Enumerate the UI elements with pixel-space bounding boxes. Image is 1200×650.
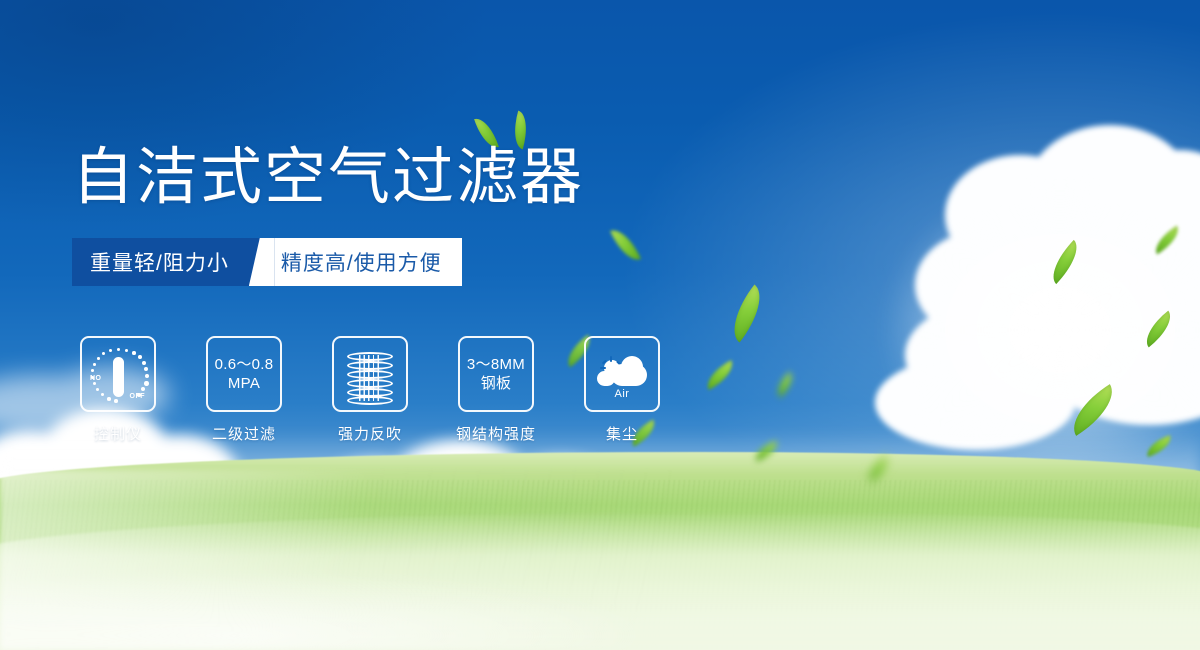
feature-label-filtration: 二级过滤 xyxy=(212,423,276,444)
air-cloud-icon: Air xyxy=(584,336,660,412)
leaf-float-1 xyxy=(610,224,641,266)
pressure-unit: MPA xyxy=(228,374,260,393)
feature-label-backblow: 强力反吹 xyxy=(338,423,402,444)
coil-icon xyxy=(332,336,408,412)
feature-label-controller: 控制仪 xyxy=(94,423,142,444)
steel-material: 钢板 xyxy=(481,374,512,393)
product-hero-banner: 自洁式空气过滤器 重量轻/阻力小 精度高/使用方便 xyxy=(0,0,1200,650)
pressure-icon: 0.6～0.8 MPA xyxy=(206,336,282,412)
gauge-label-no: NO xyxy=(90,375,102,382)
air-label: Air xyxy=(586,388,658,400)
gauge-label-off: OFF xyxy=(130,393,146,400)
gauge-icon: NO OFF xyxy=(80,336,156,412)
leaf-float-4 xyxy=(772,372,798,398)
steel-plate-icon: 3～8MM 钢板 xyxy=(458,336,534,412)
badge-right-text: 精度高/使用方便 xyxy=(275,238,462,286)
pressure-value: 0.6～0.8 xyxy=(215,355,274,374)
page-title: 自洁式空气过滤器 xyxy=(72,142,584,214)
feature-item-dust[interactable]: Air 集尘 xyxy=(584,336,660,444)
subtitle-badge-bar: 重量轻/阻力小 精度高/使用方便 xyxy=(72,238,462,286)
steel-thickness: 3～8MM xyxy=(467,355,525,374)
feature-icon-row: NO OFF 控制仪 0.6～0.8 MPA 二级过滤 xyxy=(80,336,660,444)
leaf-float-2 xyxy=(721,284,774,342)
feature-label-steel: 钢结构强度 xyxy=(456,423,536,444)
grass-field-near xyxy=(0,512,1200,650)
feature-item-controller[interactable]: NO OFF 控制仪 xyxy=(80,336,156,444)
leaf-float-3 xyxy=(701,360,739,390)
feature-item-backblow[interactable]: 强力反吹 xyxy=(332,336,408,444)
feature-item-steel[interactable]: 3～8MM 钢板 钢结构强度 xyxy=(458,336,534,444)
feature-item-filtration[interactable]: 0.6～0.8 MPA 二级过滤 xyxy=(206,336,282,444)
feature-label-dust: 集尘 xyxy=(606,423,638,444)
badge-left-text: 重量轻/阻力小 xyxy=(72,238,249,286)
badge-divider-slash xyxy=(249,238,275,286)
